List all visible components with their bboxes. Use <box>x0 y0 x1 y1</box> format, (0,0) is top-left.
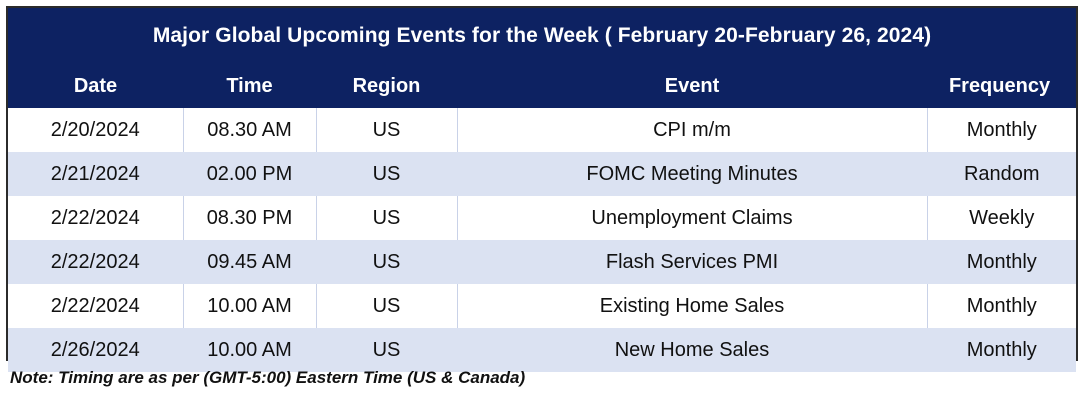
cell-time: 08.30 PM <box>183 196 316 240</box>
cell-date: 2/26/2024 <box>8 328 183 372</box>
page-title: Major Global Upcoming Events for the Wee… <box>8 8 1076 64</box>
cell-date: 2/20/2024 <box>8 108 183 152</box>
column-header-date[interactable]: Date <box>8 64 183 108</box>
cell-frequency: Monthly <box>927 108 1076 152</box>
timing-note: Note: Timing are as per (GMT-5:00) Easte… <box>10 368 1070 388</box>
table-row: 2/22/2024 09.45 AM US Flash Services PMI… <box>8 240 1076 284</box>
table-body: 2/20/2024 08.30 AM US CPI m/m Monthly 2/… <box>8 108 1076 372</box>
cell-region: US <box>316 284 457 328</box>
cell-frequency: Monthly <box>927 284 1076 328</box>
cell-date: 2/22/2024 <box>8 284 183 328</box>
column-header-frequency[interactable]: Frequency <box>927 64 1076 108</box>
cell-time: 10.00 AM <box>183 328 316 372</box>
table-row: 2/20/2024 08.30 AM US CPI m/m Monthly <box>8 108 1076 152</box>
cell-time: 02.00 PM <box>183 152 316 196</box>
cell-frequency: Monthly <box>927 328 1076 372</box>
upcoming-events-table: Major Global Upcoming Events for the Wee… <box>8 8 1076 372</box>
table-row: 2/22/2024 08.30 PM US Unemployment Claim… <box>8 196 1076 240</box>
cell-region: US <box>316 152 457 196</box>
cell-date: 2/22/2024 <box>8 196 183 240</box>
events-table-frame: Major Global Upcoming Events for the Wee… <box>6 6 1078 361</box>
cell-event: Unemployment Claims <box>457 196 927 240</box>
cell-event: Existing Home Sales <box>457 284 927 328</box>
cell-event: CPI m/m <box>457 108 927 152</box>
cell-date: 2/22/2024 <box>8 240 183 284</box>
table-header-row: Date Time Region Event Frequency <box>8 64 1076 108</box>
cell-region: US <box>316 240 457 284</box>
table-row: 2/21/2024 02.00 PM US FOMC Meeting Minut… <box>8 152 1076 196</box>
cell-time: 09.45 AM <box>183 240 316 284</box>
column-header-time[interactable]: Time <box>183 64 316 108</box>
cell-frequency: Monthly <box>927 240 1076 284</box>
table-row: 2/26/2024 10.00 AM US New Home Sales Mon… <box>8 328 1076 372</box>
cell-event: New Home Sales <box>457 328 927 372</box>
events-table-page: Major Global Upcoming Events for the Wee… <box>0 0 1090 415</box>
cell-time: 10.00 AM <box>183 284 316 328</box>
cell-frequency: Weekly <box>927 196 1076 240</box>
cell-time: 08.30 AM <box>183 108 316 152</box>
cell-region: US <box>316 196 457 240</box>
table-row: 2/22/2024 10.00 AM US Existing Home Sale… <box>8 284 1076 328</box>
cell-region: US <box>316 328 457 372</box>
cell-event: Flash Services PMI <box>457 240 927 284</box>
cell-region: US <box>316 108 457 152</box>
cell-frequency: Random <box>927 152 1076 196</box>
column-header-event[interactable]: Event <box>457 64 927 108</box>
column-header-region[interactable]: Region <box>316 64 457 108</box>
table-title-row: Major Global Upcoming Events for the Wee… <box>8 8 1076 64</box>
cell-date: 2/21/2024 <box>8 152 183 196</box>
cell-event: FOMC Meeting Minutes <box>457 152 927 196</box>
